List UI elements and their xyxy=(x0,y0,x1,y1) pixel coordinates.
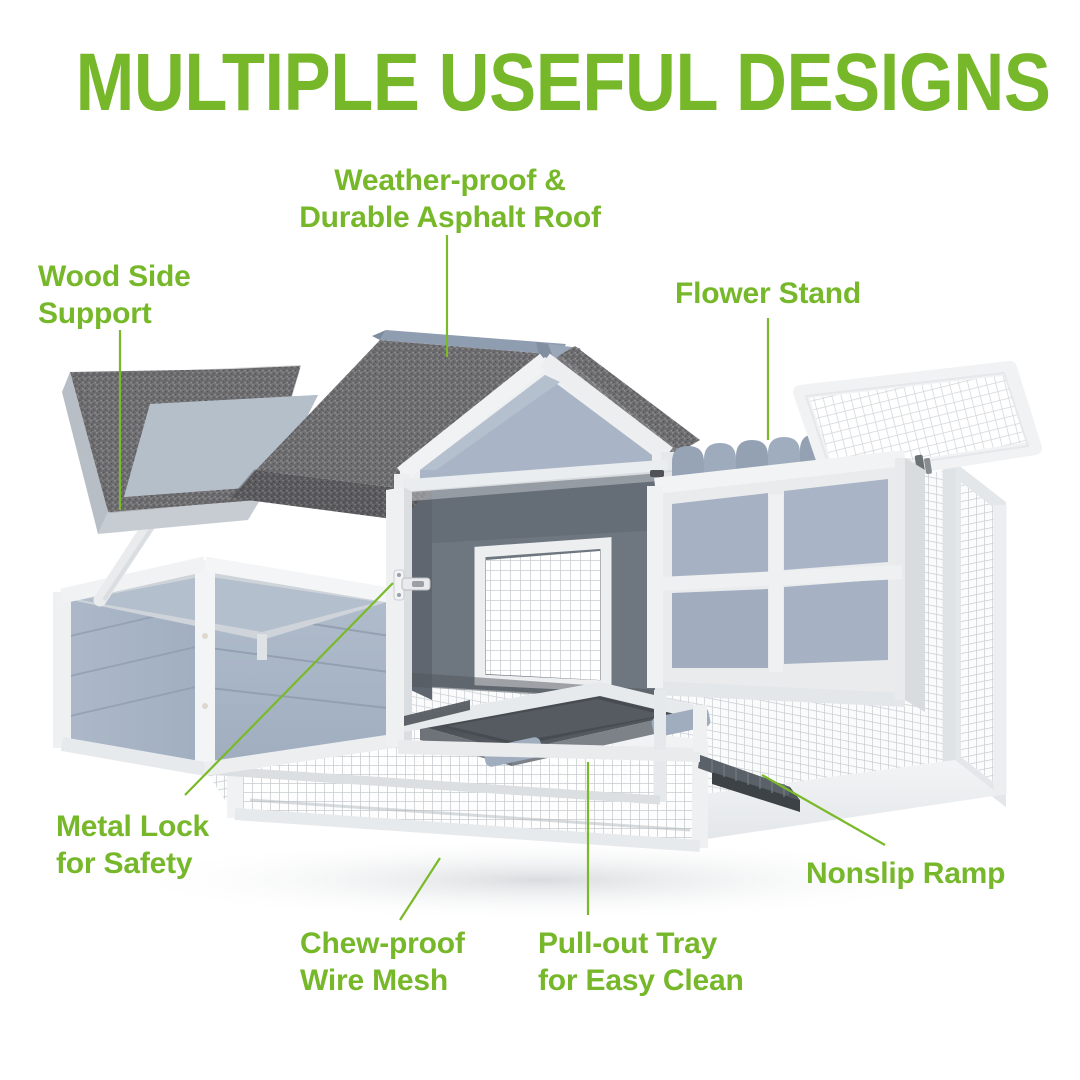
callout-metal-lock: Metal Lock for Safety xyxy=(56,808,316,882)
leader-metal-lock xyxy=(185,583,393,795)
callout-wood-side-support: Wood Side Support xyxy=(38,258,298,332)
callout-chew-proof-mesh: Chew-proof Wire Mesh xyxy=(300,925,560,999)
leader-nonslip-ramp xyxy=(762,775,885,845)
callout-flower-stand: Flower Stand xyxy=(618,275,918,312)
callout-weather-proof-roof: Weather-proof & Durable Asphalt Roof xyxy=(250,162,650,236)
infographic-canvas: MULTIPLE USEFUL DESIGNS xyxy=(0,0,1080,1080)
leader-wire-mesh xyxy=(400,858,440,920)
callout-nonslip-ramp: Nonslip Ramp xyxy=(806,855,1080,892)
callout-pull-out-tray: Pull-out Tray for Easy Clean xyxy=(538,925,838,999)
